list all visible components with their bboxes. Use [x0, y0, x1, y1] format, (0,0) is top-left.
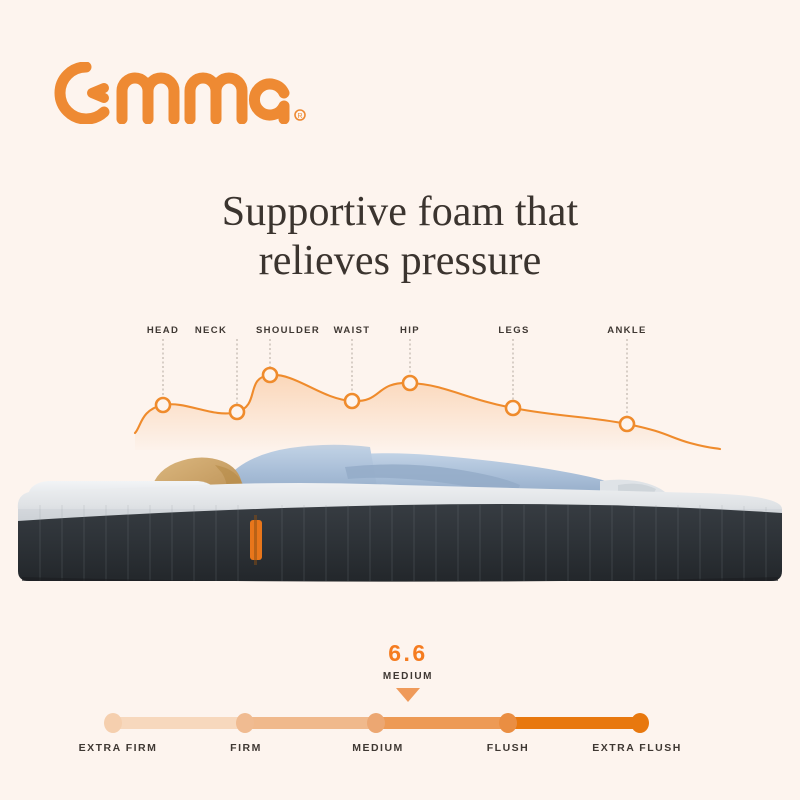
firmness-scale-labels: EXTRA FIRMFIRMMEDIUMFLUSHEXTRA FLUSH — [0, 742, 800, 762]
firmness-label-flush: FLUSH — [487, 742, 530, 754]
firmness-segment-1[interactable] — [113, 717, 245, 729]
firmness-dot-5[interactable] — [631, 713, 649, 733]
pressure-marker-waist[interactable] — [345, 394, 359, 408]
headline-line-1: Supportive foam that — [222, 189, 579, 235]
firmness-dot-2[interactable] — [236, 713, 254, 733]
firmness-score-caption: MEDIUM — [8, 671, 800, 682]
firmness-score-value: 6.6 — [8, 640, 800, 667]
firmness-scale-track[interactable] — [0, 712, 800, 734]
firmness-pointer-triangle — [396, 688, 420, 702]
pressure-marker-neck[interactable] — [230, 405, 244, 419]
pressure-marker-ankle[interactable] — [620, 417, 634, 431]
svg-text:R: R — [297, 113, 302, 120]
firmness-dot-1[interactable] — [104, 713, 122, 733]
firmness-segment-2[interactable] — [245, 717, 376, 729]
pressure-marker-legs[interactable] — [506, 401, 520, 415]
emma-logo-svg: R — [52, 62, 312, 124]
firmness-score-block: 6.6 MEDIUM — [0, 640, 800, 702]
firmness-label-medium: MEDIUM — [352, 742, 404, 754]
firmness-segment-3[interactable] — [376, 717, 508, 729]
mattress-base-layer — [18, 504, 782, 581]
pressure-curve — [0, 325, 800, 450]
pressure-point-diagram: HEADNECKSHOULDERWAISTHIPLEGSANKLE — [0, 325, 800, 615]
firmness-dot-4[interactable] — [499, 713, 517, 733]
firmness-label-extra-flush: EXTRA FLUSH — [592, 742, 682, 754]
firmness-segment-4[interactable] — [508, 717, 640, 729]
handle-tab-strap — [254, 515, 257, 565]
page-title: Supportive foam that relieves pressure — [0, 188, 800, 286]
firmness-label-firm: FIRM — [230, 742, 262, 754]
firmness-label-extra-firm: EXTRA FIRM — [79, 742, 158, 754]
emma-mattress-infographic: R Supportive foam that relieves pressure… — [0, 0, 800, 800]
emma-logo: R — [52, 62, 312, 124]
firmness-dot-3[interactable] — [367, 713, 385, 733]
pressure-marker-head[interactable] — [156, 398, 170, 412]
headline-line-2: relieves pressure — [0, 237, 800, 286]
pressure-marker-hip[interactable] — [403, 376, 417, 390]
pressure-marker-shoulder[interactable] — [263, 368, 277, 382]
